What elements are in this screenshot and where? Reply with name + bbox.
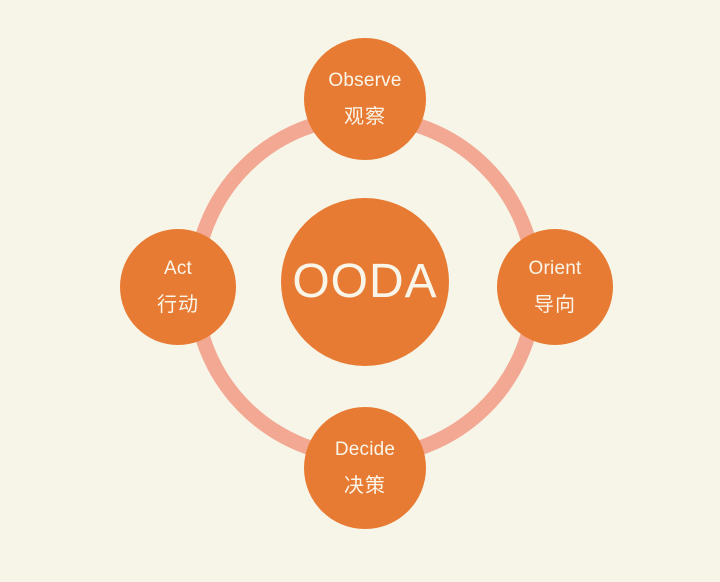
node-decide-label-zh: 决策 bbox=[344, 476, 386, 496]
node-act-label-en: Act bbox=[164, 259, 192, 278]
center-node-ooda[interactable]: OODA bbox=[281, 198, 449, 366]
node-act-label-zh: 行动 bbox=[157, 295, 199, 315]
center-node-label: OODA bbox=[292, 258, 437, 306]
node-observe[interactable]: Observe 观察 bbox=[304, 38, 426, 160]
ooda-diagram: OODA Observe 观察 Orient 导向 Decide 决策 Act … bbox=[0, 0, 720, 582]
node-observe-label-en: Observe bbox=[328, 71, 401, 90]
node-observe-label-zh: 观察 bbox=[344, 107, 386, 127]
node-decide[interactable]: Decide 决策 bbox=[304, 407, 426, 529]
node-orient[interactable]: Orient 导向 bbox=[497, 229, 613, 345]
node-orient-label-zh: 导向 bbox=[534, 295, 576, 315]
node-decide-label-en: Decide bbox=[335, 440, 395, 459]
node-act[interactable]: Act 行动 bbox=[120, 229, 236, 345]
node-orient-label-en: Orient bbox=[529, 259, 582, 278]
